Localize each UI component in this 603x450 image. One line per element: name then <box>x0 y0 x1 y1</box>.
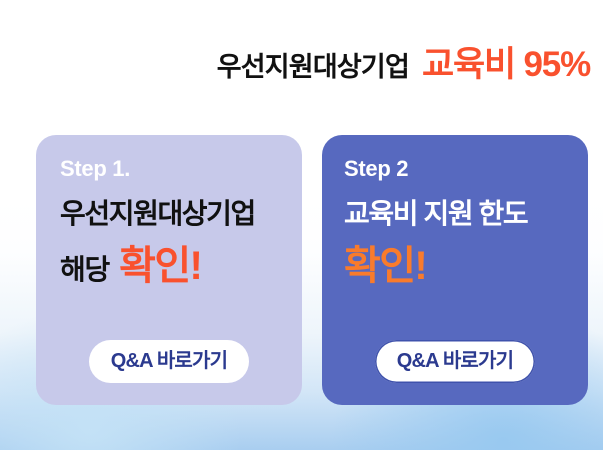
card-group: Step 1. 우선지원대상기업 해당 확인! Q&A 바로가기 Step 2 … <box>36 135 588 405</box>
card-headline: 우선지원대상기업 <box>60 200 255 228</box>
card-subline: 해당 확인! <box>60 246 201 286</box>
headline-primary-text: 우선지원대상기업 <box>217 54 409 81</box>
card-subline-accent: 확인! <box>344 246 426 286</box>
step-label: Step 1. <box>60 158 130 180</box>
cta-container: Q&A 바로가기 <box>36 340 302 383</box>
step-card-2[interactable]: Step 2 교육비 지원 한도 확인! Q&A 바로가기 <box>322 135 588 405</box>
headline: 우선지원대상기업 교육비 95% <box>217 47 590 82</box>
step-card-1[interactable]: Step 1. 우선지원대상기업 해당 확인! Q&A 바로가기 <box>36 135 302 405</box>
card-headline: 교육비 지원 한도 <box>344 200 527 228</box>
headline-accent-text: 교육비 95% <box>422 47 590 82</box>
qa-link-button[interactable]: Q&A 바로가기 <box>89 340 249 383</box>
promo-banner: 우선지원대상기업 교육비 95% Step 1. 우선지원대상기업 해당 확인!… <box>0 0 603 450</box>
card-subline: 확인! <box>344 246 426 286</box>
card-subline-prefix: 해당 <box>60 256 109 284</box>
cta-container: Q&A 바로가기 <box>322 340 588 383</box>
qa-link-button[interactable]: Q&A 바로가기 <box>375 340 535 383</box>
card-subline-accent: 확인! <box>119 246 201 286</box>
step-label: Step 2 <box>344 158 408 180</box>
